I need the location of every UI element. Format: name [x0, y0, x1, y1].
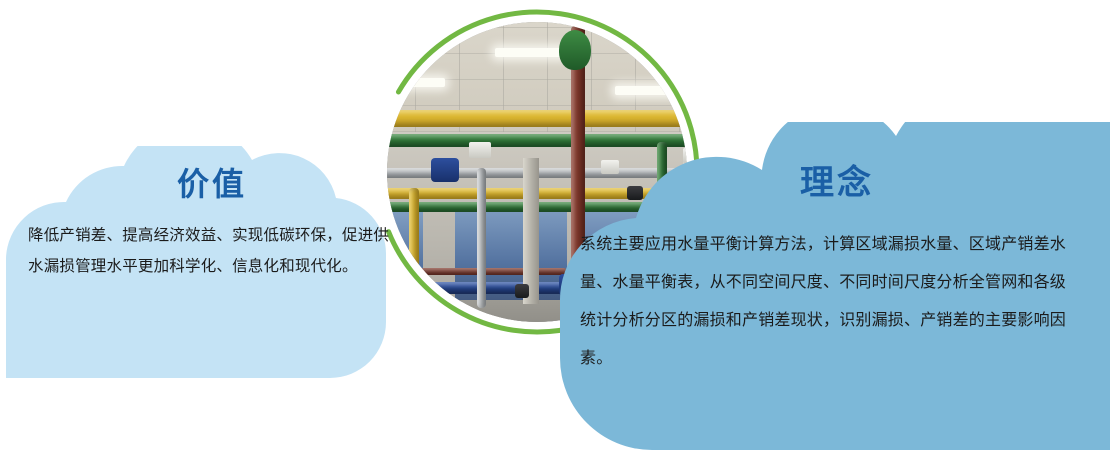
cloud-body-value: 降低产销差、提高经济效益、实现低碳环保，促进供水漏损管理水平更加科学化、信息化和…: [6, 200, 418, 282]
cloud-body-concept: 系统主要应用水量平衡计算方法，计算区域漏损水量、区域产销差水量、水量平衡表，从不…: [516, 200, 1110, 378]
ceiling-light: [387, 78, 445, 87]
cloud-title-value: 价值: [6, 146, 418, 200]
infographic-canvas: 价值 降低产销差、提高经济效益、实现低碳环保，促进供水漏损管理水平更加科学化、信…: [0, 0, 1110, 453]
cloud-content-concept: 理念 系统主要应用水量平衡计算方法，计算区域漏损水量、区域产销差水量、水量平衡表…: [516, 122, 1110, 450]
flow-meter: [469, 142, 491, 158]
ceiling-light: [495, 48, 565, 57]
cloud-content-value: 价值 降低产销差、提高经济效益、实现低碳环保，促进供水漏损管理水平更加科学化、信…: [6, 146, 418, 378]
ceiling-light: [615, 86, 687, 95]
grey-riser: [477, 168, 486, 308]
cloud-title-concept: 理念: [516, 122, 1110, 200]
green-valve: [559, 30, 591, 70]
blue-valve: [431, 158, 459, 182]
